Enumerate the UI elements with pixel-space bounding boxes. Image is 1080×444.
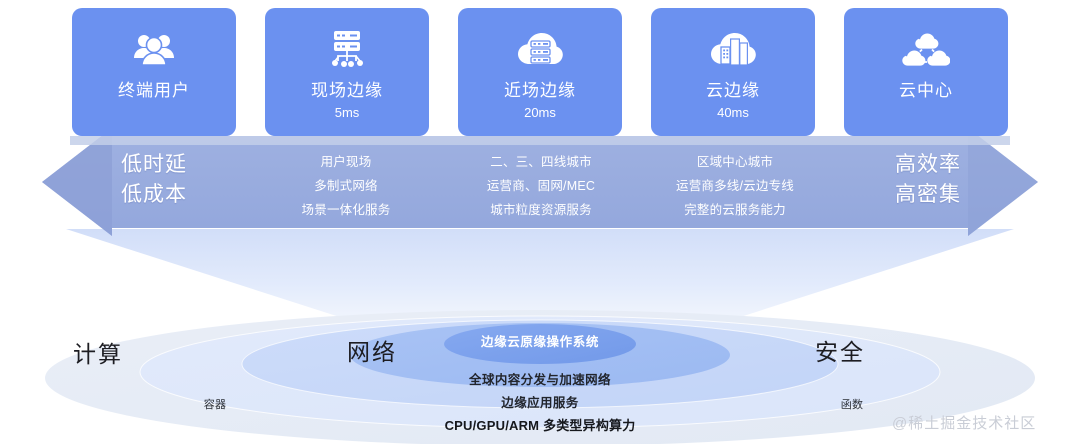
platform-tag-function: 函数	[812, 396, 892, 412]
pillar-label-compute: 计算	[38, 335, 158, 369]
platform-label-layer: 计算 网络 安全 边缘云原缘操作系统 全球内容分发与加速网络 边缘应用服务 CP…	[0, 0, 1080, 444]
platform-layer-os: 边缘云原缘操作系统	[420, 331, 660, 350]
pillar-label-security: 安全	[752, 333, 928, 367]
pillar-label-network: 网络	[312, 333, 432, 367]
platform-layer-app: 边缘应用服务	[420, 392, 660, 411]
platform-layer-cdn: 全球内容分发与加速网络	[400, 369, 680, 388]
diagram-canvas: 终端用户	[0, 0, 1080, 444]
platform-layer-compute-power: CPU/GPU/ARM 多类型异构算力	[380, 415, 700, 434]
watermark: @稀土掘金技术社区	[892, 412, 1036, 433]
platform-tag-container: 容器	[170, 396, 260, 412]
